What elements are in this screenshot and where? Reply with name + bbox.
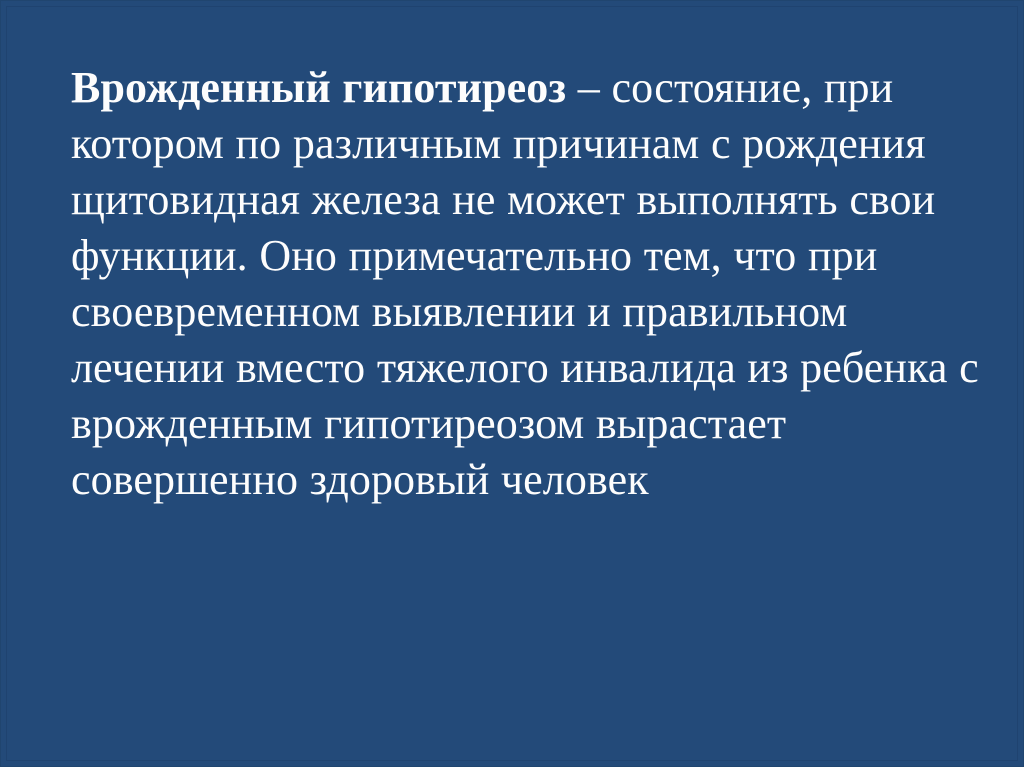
definition-body: – состояние, при котором по различным пр…: [71, 63, 979, 504]
definition-term: Врожденный гипотиреоз: [71, 63, 566, 112]
slide-content-body: Врожденный гипотиреоз – состояние, при к…: [71, 60, 987, 640]
presentation-slide: Врожденный гипотиреоз – состояние, при к…: [0, 0, 1024, 767]
slide-paragraph: Врожденный гипотиреоз – состояние, при к…: [71, 60, 987, 508]
